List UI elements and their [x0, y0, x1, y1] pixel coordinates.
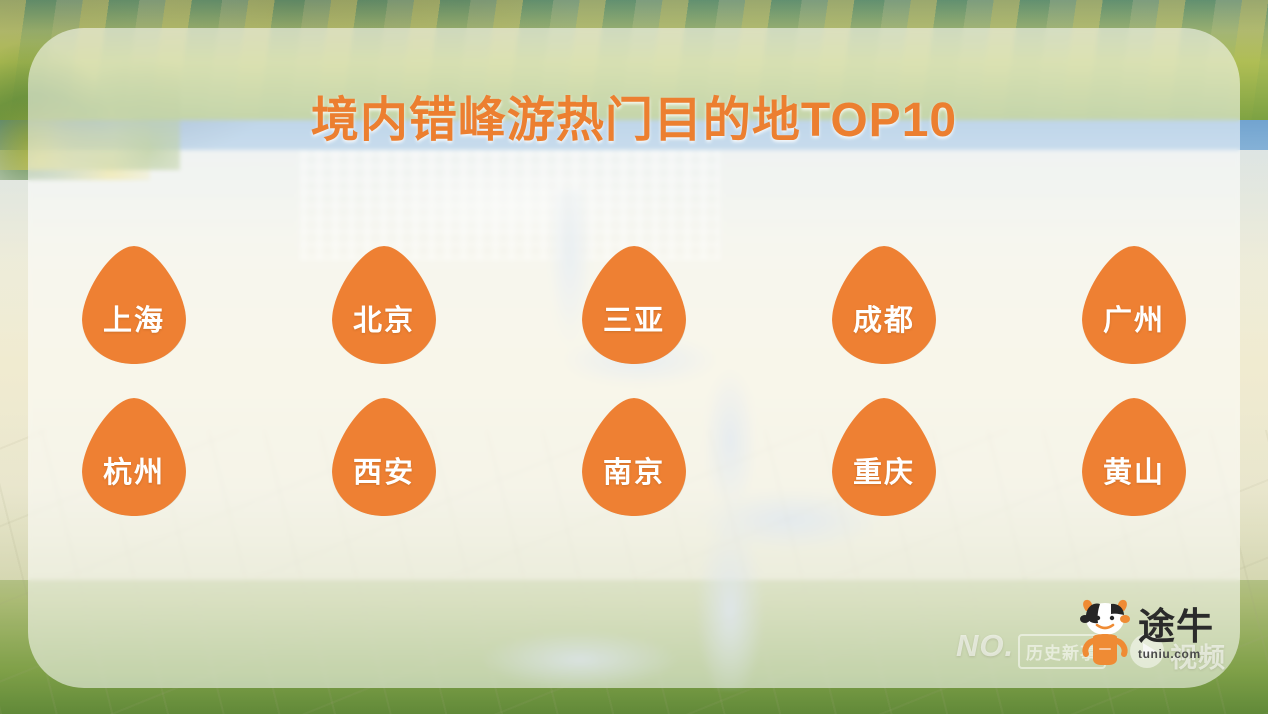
destination-label: 黄山: [1103, 459, 1165, 516]
destination-badge-xian[interactable]: 西安: [332, 398, 436, 516]
screenshot-stage: 境内错峰游热门目的地TOP10 上海 北京 三亚 成都: [0, 0, 1268, 714]
tuniu-logo-text: 途牛 tuniu.com: [1138, 609, 1214, 661]
destination-badge-sanya[interactable]: 三亚: [582, 246, 686, 364]
destination-label: 上海: [103, 307, 165, 364]
destination-label: 成都: [853, 307, 915, 364]
destination-badge-huangshan[interactable]: 黄山: [1082, 398, 1186, 516]
tuniu-logo-url: tuniu.com: [1138, 647, 1201, 661]
destination-label: 南京: [603, 459, 665, 516]
tuniu-logo-cn: 途牛: [1138, 609, 1214, 644]
destination-badge-nanjing[interactable]: 南京: [582, 398, 686, 516]
content-card: 境内错峰游热门目的地TOP10 上海 北京 三亚 成都: [28, 28, 1240, 688]
destination-badge-beijing[interactable]: 北京: [332, 246, 436, 364]
destination-label: 三亚: [603, 307, 665, 364]
destination-grid: 上海 北京 三亚 成都 广州: [82, 246, 1186, 516]
destination-badge-hangzhou[interactable]: 杭州: [82, 398, 186, 516]
tuniu-logo: 途牛 tuniu.com: [1078, 592, 1250, 678]
destination-label: 杭州: [103, 459, 165, 516]
destination-badge-guangzhou[interactable]: 广州: [1082, 246, 1186, 364]
destination-label: 广州: [1103, 307, 1165, 364]
destination-badge-chengdu[interactable]: 成都: [832, 246, 936, 364]
destination-badge-shanghai[interactable]: 上海: [82, 246, 186, 364]
cow-mascot-icon: [1078, 597, 1132, 674]
destination-row-1: 上海 北京 三亚 成都 广州: [82, 246, 1186, 364]
page-title: 境内错峰游热门目的地TOP10: [28, 80, 1240, 150]
destination-label: 北京: [353, 307, 415, 364]
destination-badge-chongqing[interactable]: 重庆: [832, 398, 936, 516]
destination-row-2: 杭州 西安 南京 重庆 黄山: [82, 398, 1186, 516]
destination-label: 西安: [353, 459, 415, 516]
destination-label: 重庆: [853, 459, 915, 516]
